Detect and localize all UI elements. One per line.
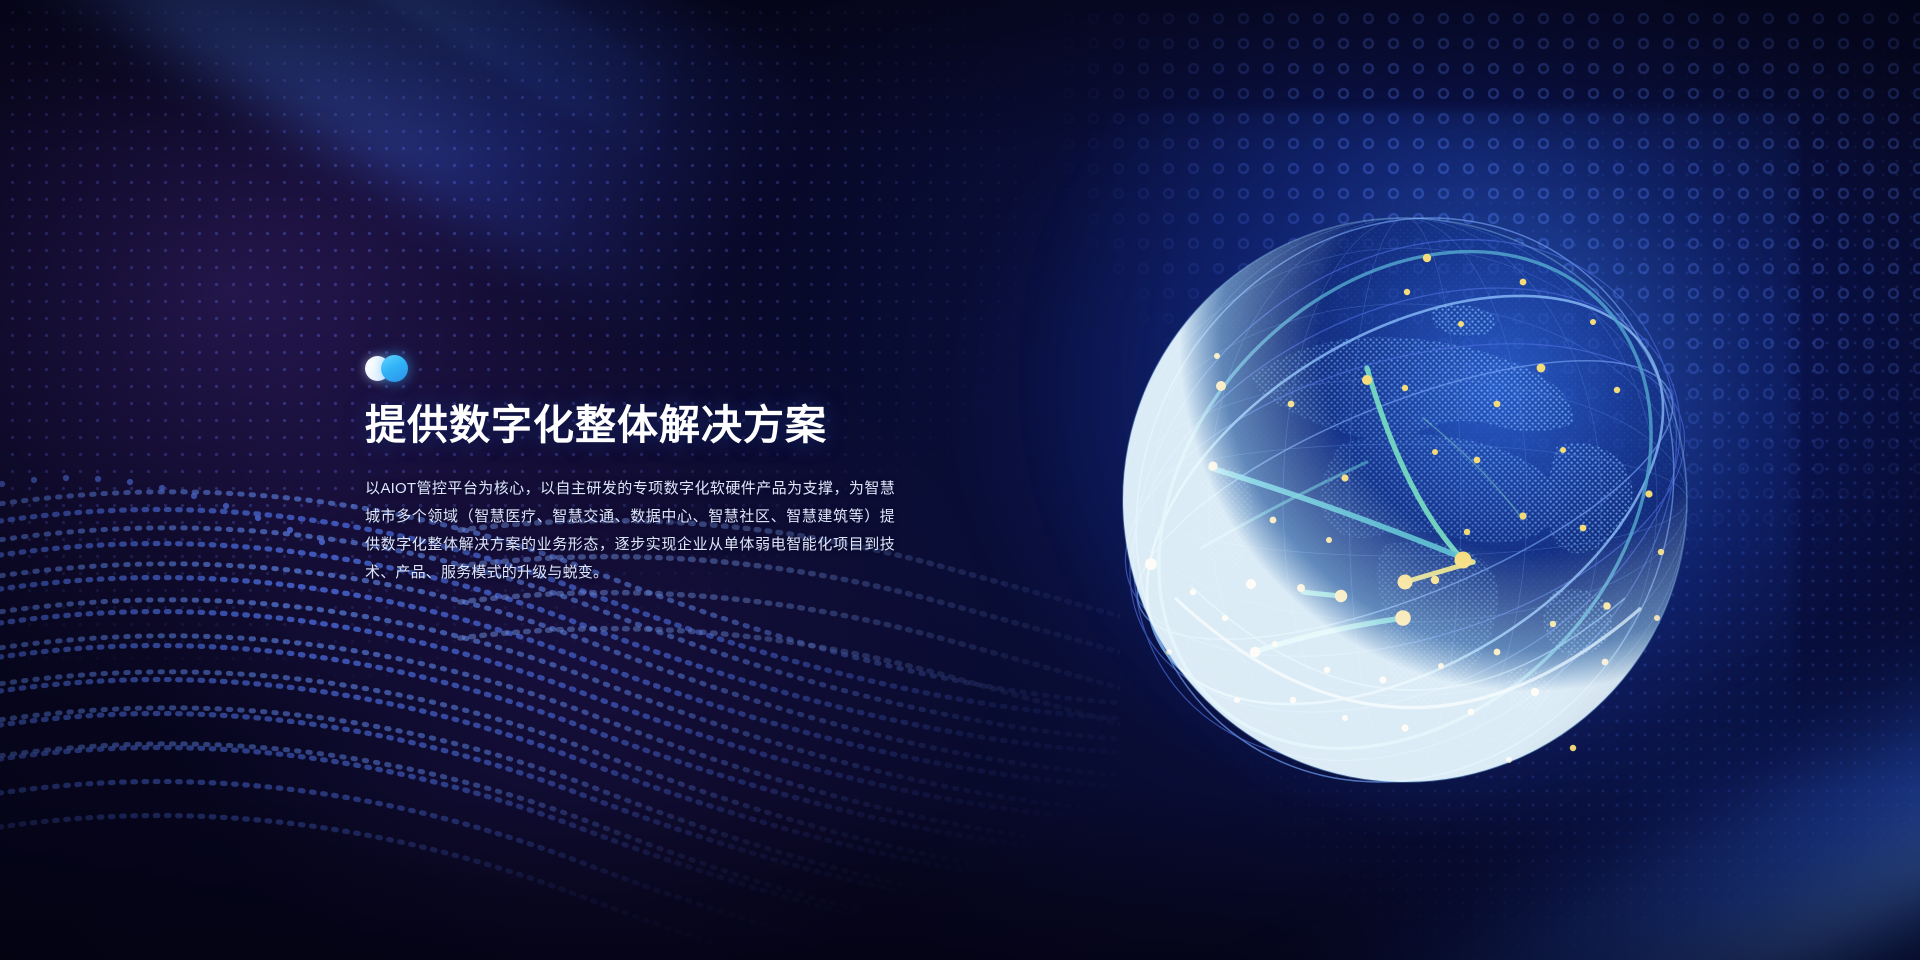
hero-banner: 提供数字化整体解决方案 以AIOT管控平台为核心，以自主研发的专项数字化软硬件产…: [0, 0, 1920, 960]
light-streak-top-left: [0, 0, 833, 352]
two-dot-accent: [365, 355, 905, 381]
hero-content: 提供数字化整体解决方案 以AIOT管控平台为核心，以自主研发的专项数字化软硬件产…: [365, 355, 905, 587]
page-title: 提供数字化整体解决方案: [365, 403, 905, 449]
accent-dot-cyan-icon: [381, 355, 408, 382]
hero-description: 以AIOT管控平台为核心，以自主研发的专项数字化软硬件产品为支撑，为智慧城市多个…: [365, 475, 895, 587]
digital-earth-globe: [1105, 200, 1705, 800]
